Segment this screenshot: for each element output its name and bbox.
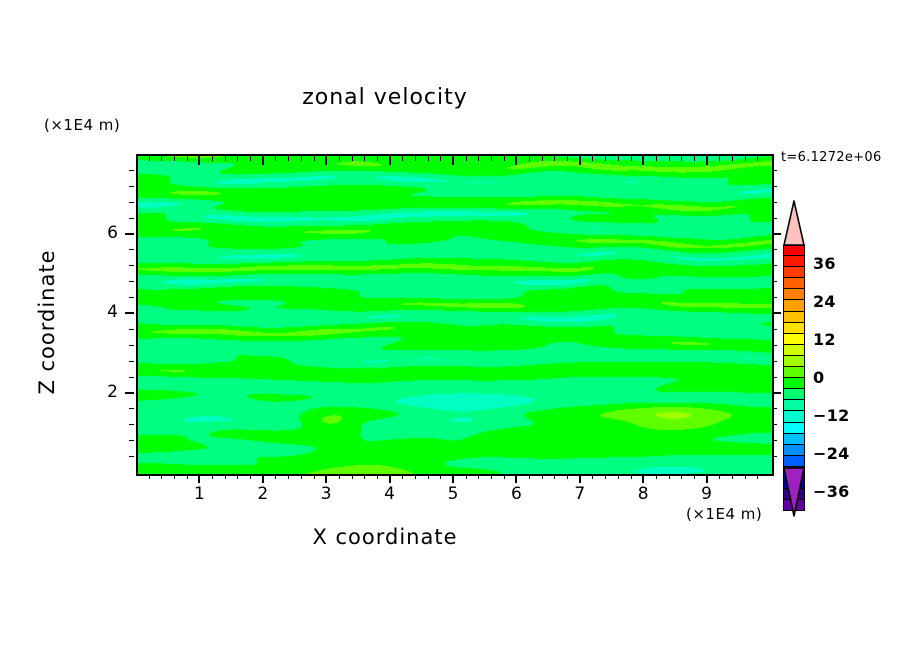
x-minor-tick (364, 474, 365, 479)
y-minor-tick-right (772, 329, 777, 330)
x-minor-tick-top (694, 156, 695, 161)
y-minor-tick-right (772, 440, 777, 441)
x-major-tick-top (262, 156, 264, 165)
x-minor-tick (440, 474, 441, 479)
x-minor-tick-top (275, 156, 276, 161)
x-minor-tick-top (314, 156, 315, 161)
x-minor-tick (250, 474, 251, 479)
x-major-tick (515, 474, 517, 483)
x-minor-tick (187, 474, 188, 479)
x-minor-tick (605, 474, 606, 479)
y-minor-tick-right (772, 424, 777, 425)
x-minor-tick (567, 474, 568, 479)
x-minor-tick (466, 474, 467, 479)
x-major-tick-top (706, 156, 708, 165)
figure-canvas: zonal velocity (×1E4 m) t=6.1272e+06 123… (0, 0, 904, 654)
y-minor-tick-right (772, 297, 777, 298)
x-minor-tick (288, 474, 289, 479)
x-minor-tick (529, 474, 530, 479)
x-minor-tick-top (504, 156, 505, 161)
x-minor-tick-top (428, 156, 429, 161)
x-tick-label: 4 (370, 484, 410, 504)
x-minor-tick-top (250, 156, 251, 161)
y-major-tick-right (772, 312, 781, 314)
x-minor-tick (301, 474, 302, 479)
x-minor-tick (212, 474, 213, 479)
velocity-field-canvas (138, 156, 772, 474)
x-major-tick (198, 474, 200, 483)
colorbar-label: −36 (813, 482, 850, 501)
x-major-tick-top (579, 156, 581, 165)
y-minor-tick (129, 249, 134, 250)
y-minor-tick-right (772, 186, 777, 187)
colorbar-band (783, 323, 805, 334)
x-minor-tick-top (415, 156, 416, 161)
x-minor-tick (694, 474, 695, 479)
x-minor-tick (491, 474, 492, 479)
y-minor-tick (129, 377, 134, 378)
x-tick-label: 6 (496, 484, 536, 504)
colorbar-band (783, 289, 805, 300)
x-minor-tick (618, 474, 619, 479)
page-title: zonal velocity (0, 85, 770, 110)
x-minor-tick-top (352, 156, 353, 161)
x-minor-tick (669, 474, 670, 479)
colorbar-band (783, 334, 805, 345)
colorbar-band (783, 312, 805, 323)
colorbar-band (783, 389, 805, 400)
x-major-tick-top (198, 156, 200, 165)
x-minor-tick-top (631, 156, 632, 161)
x-minor-tick (428, 474, 429, 479)
colorbar-label: 12 (813, 330, 836, 349)
y-minor-tick (129, 329, 134, 330)
x-minor-tick (681, 474, 682, 479)
x-minor-tick (554, 474, 555, 479)
x-minor-tick-top (402, 156, 403, 161)
x-axis-title: X coordinate (0, 525, 770, 549)
colorbar-band (783, 378, 805, 389)
x-minor-tick-top (212, 156, 213, 161)
x-minor-tick (402, 474, 403, 479)
x-tick-label: 8 (623, 484, 663, 504)
x-minor-tick-top (466, 156, 467, 161)
x-minor-tick-top (554, 156, 555, 161)
y-minor-tick (129, 361, 134, 362)
y-minor-tick (129, 456, 134, 457)
y-minor-tick (129, 440, 134, 441)
y-minor-tick (129, 170, 134, 171)
y-tick-label: 2 (78, 382, 118, 402)
x-tick-label: 7 (560, 484, 600, 504)
x-major-tick (389, 474, 391, 483)
x-minor-tick-top (592, 156, 593, 161)
x-minor-tick (656, 474, 657, 479)
x-axis-unit-label: (×1E4 m) (686, 505, 762, 523)
x-minor-tick (478, 474, 479, 479)
colorbar-band (783, 400, 805, 411)
y-minor-tick-right (772, 408, 777, 409)
x-minor-tick (592, 474, 593, 479)
x-minor-tick (504, 474, 505, 479)
x-minor-tick (719, 474, 720, 479)
x-minor-tick-top (364, 156, 365, 161)
x-major-tick (325, 474, 327, 483)
colorbar-label: 24 (813, 292, 836, 311)
x-major-tick-top (452, 156, 454, 165)
y-minor-tick (129, 345, 134, 346)
x-major-tick (262, 474, 264, 483)
y-tick-label: 6 (78, 223, 118, 243)
colorbar-label: −12 (813, 406, 850, 425)
colorbar-band (783, 456, 805, 467)
x-minor-tick-top (174, 156, 175, 161)
x-major-tick (452, 474, 454, 483)
x-minor-tick-top (719, 156, 720, 161)
colorbar-band (783, 423, 805, 434)
x-minor-tick-top (225, 156, 226, 161)
x-major-tick-top (642, 156, 644, 165)
x-tick-label: 2 (243, 484, 283, 504)
x-minor-tick (415, 474, 416, 479)
x-minor-tick-top (149, 156, 150, 161)
x-minor-tick-top (339, 156, 340, 161)
colorbar-band (783, 356, 805, 367)
colorbar-band (783, 278, 805, 289)
y-major-tick (125, 392, 134, 394)
colorbar-band (783, 445, 805, 456)
x-minor-tick (745, 474, 746, 479)
x-minor-tick-top (567, 156, 568, 161)
x-minor-tick-top (529, 156, 530, 161)
x-minor-tick-top (757, 156, 758, 161)
time-annotation: t=6.1272e+06 (781, 150, 882, 165)
y-minor-tick-right (772, 377, 777, 378)
y-minor-tick (129, 424, 134, 425)
x-minor-tick (757, 474, 758, 479)
y-major-tick (125, 233, 134, 235)
y-minor-tick (129, 218, 134, 219)
x-minor-tick-top (440, 156, 441, 161)
x-minor-tick (352, 474, 353, 479)
y-minor-tick (129, 281, 134, 282)
y-minor-tick-right (772, 345, 777, 346)
colorbar-band (783, 367, 805, 378)
y-minor-tick (129, 297, 134, 298)
y-minor-tick-right (772, 281, 777, 282)
y-axis-unit-label: (×1E4 m) (44, 116, 120, 134)
x-major-tick-top (515, 156, 517, 165)
x-minor-tick-top (301, 156, 302, 161)
y-minor-tick (129, 408, 134, 409)
colorbar-over-arrow (783, 200, 805, 246)
x-minor-tick-top (288, 156, 289, 161)
colorbar-band (783, 411, 805, 422)
colorbar-label: −24 (813, 444, 850, 463)
colorbar-under-arrow (783, 467, 805, 517)
x-minor-tick (237, 474, 238, 479)
y-minor-tick-right (772, 361, 777, 362)
x-minor-tick-top (542, 156, 543, 161)
x-minor-tick-top (478, 156, 479, 161)
x-minor-tick (149, 474, 150, 479)
x-minor-tick-top (377, 156, 378, 161)
x-minor-tick-top (681, 156, 682, 161)
contour-plot-area (136, 154, 774, 476)
x-minor-tick-top (161, 156, 162, 161)
x-major-tick (642, 474, 644, 483)
y-minor-tick-right (772, 249, 777, 250)
y-tick-label: 4 (78, 302, 118, 322)
x-tick-label: 1 (179, 484, 219, 504)
x-minor-tick (161, 474, 162, 479)
y-axis-title: Z coordinate (35, 212, 59, 432)
colorbar-label: 36 (813, 254, 836, 273)
x-minor-tick-top (732, 156, 733, 161)
y-minor-tick-right (772, 265, 777, 266)
colorbar-band (783, 256, 805, 267)
x-major-tick-top (325, 156, 327, 165)
colorbar-band (783, 434, 805, 445)
y-minor-tick (129, 265, 134, 266)
y-minor-tick (129, 202, 134, 203)
x-minor-tick-top (618, 156, 619, 161)
x-minor-tick-top (187, 156, 188, 161)
colorbar-band (783, 267, 805, 278)
x-major-tick (706, 474, 708, 483)
y-minor-tick-right (772, 456, 777, 457)
x-minor-tick-top (745, 156, 746, 161)
y-minor-tick-right (772, 202, 777, 203)
colorbar-band (783, 300, 805, 311)
x-minor-tick (225, 474, 226, 479)
y-major-tick (125, 312, 134, 314)
x-minor-tick-top (237, 156, 238, 161)
colorbar-band (783, 345, 805, 356)
x-major-tick (579, 474, 581, 483)
y-major-tick-right (772, 392, 781, 394)
x-minor-tick-top (605, 156, 606, 161)
x-minor-tick (174, 474, 175, 479)
y-minor-tick (129, 186, 134, 187)
x-minor-tick-top (491, 156, 492, 161)
x-minor-tick (377, 474, 378, 479)
y-minor-tick-right (772, 218, 777, 219)
x-minor-tick (314, 474, 315, 479)
x-minor-tick (275, 474, 276, 479)
x-minor-tick (732, 474, 733, 479)
x-minor-tick-top (656, 156, 657, 161)
x-tick-label: 9 (687, 484, 727, 504)
x-minor-tick (339, 474, 340, 479)
y-major-tick-right (772, 233, 781, 235)
x-tick-label: 5 (433, 484, 473, 504)
x-tick-label: 3 (306, 484, 346, 504)
x-minor-tick (631, 474, 632, 479)
x-minor-tick-top (669, 156, 670, 161)
colorbar-band (783, 245, 805, 256)
x-minor-tick (542, 474, 543, 479)
y-minor-tick-right (772, 170, 777, 171)
colorbar-label: 0 (813, 368, 824, 387)
x-major-tick-top (389, 156, 391, 165)
